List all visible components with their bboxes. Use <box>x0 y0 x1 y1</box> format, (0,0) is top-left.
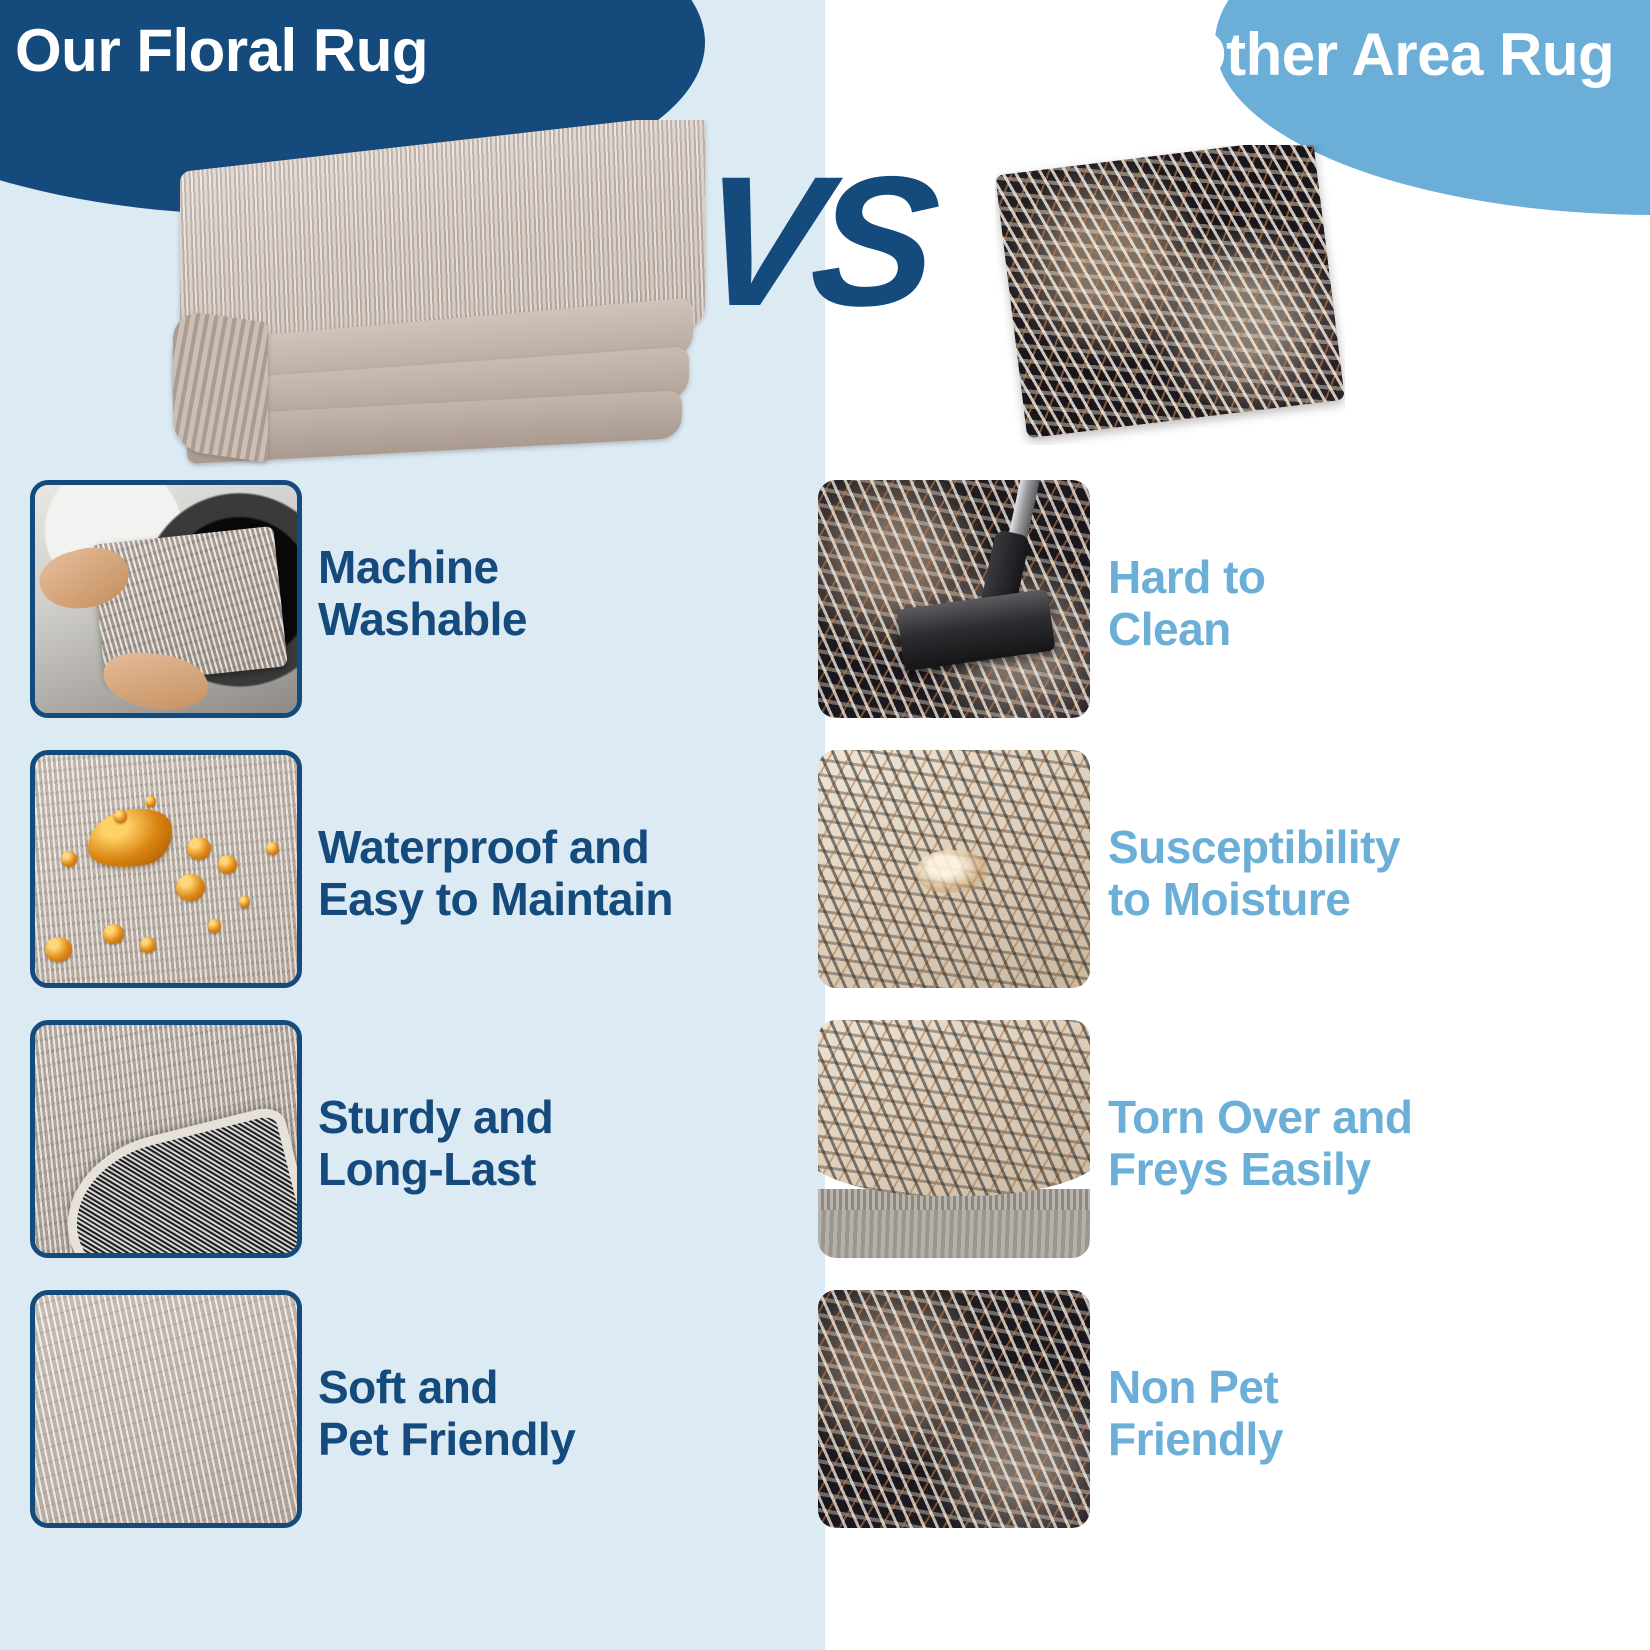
droplet-icon <box>176 874 205 901</box>
pro-label: Soft and Pet Friendly <box>318 1362 575 1465</box>
other-product-title: Other Area Rug <box>1180 20 1614 89</box>
wood-floor <box>818 1210 1090 1258</box>
feature-row: Sturdy and Long-Last Torn Over and Freys… <box>0 1010 1650 1280</box>
pro-label: Machine Washable <box>318 542 527 645</box>
rug-fold-edge <box>173 309 268 462</box>
pro-label: Sturdy and Long-Last <box>318 1092 553 1195</box>
con-label: Susceptibility to Moisture <box>1108 822 1400 925</box>
droplet-icon <box>114 810 127 824</box>
con-thumbnail-moisture <box>818 750 1090 988</box>
droplet-icon <box>218 855 236 873</box>
soft-texture-icon <box>35 1295 297 1523</box>
dark-rug-shape <box>995 145 1345 439</box>
pro-thumbnail-sturdy <box>30 1020 302 1258</box>
droplet-icon <box>61 851 77 867</box>
pro-thumbnail-waterproof <box>30 750 302 988</box>
pro-thumbnail-machine-washable <box>30 480 302 718</box>
droplet-icon <box>208 919 221 933</box>
our-rug-hero-image <box>155 120 715 480</box>
droplet-icon <box>103 924 124 945</box>
stain-shape <box>916 850 987 893</box>
feature-rows: Machine Washable Hard to Clean <box>0 470 1650 1550</box>
liquid-beading-icon <box>35 755 297 983</box>
infographic-canvas: Our Floral Rug Other Area Rug VS Machine… <box>0 0 1650 1650</box>
curled-rug-edge <box>818 1020 1090 1196</box>
feature-row: Soft and Pet Friendly Non Pet Friendly <box>0 1280 1650 1550</box>
droplet-icon <box>45 937 71 962</box>
liquid-blob-icon <box>83 803 178 874</box>
droplet-icon <box>239 896 249 907</box>
other-rug-hero-image <box>995 145 1345 445</box>
our-product-title: Our Floral Rug <box>15 16 428 85</box>
droplet-icon <box>140 937 156 953</box>
droplet-icon <box>266 842 279 856</box>
droplet-icon <box>187 837 211 860</box>
pro-thumbnail-soft <box>30 1290 302 1528</box>
vacuum-on-rug-icon <box>818 480 1090 718</box>
con-label: Non Pet Friendly <box>1108 1362 1283 1465</box>
rug-backing-icon <box>35 1025 297 1253</box>
con-thumbnail-torn <box>818 1020 1090 1258</box>
con-label: Torn Over and Freys Easily <box>1108 1092 1412 1195</box>
feature-row: Waterproof and Easy to Maintain Suscepti… <box>0 740 1650 1010</box>
washing-machine-icon <box>35 485 297 713</box>
pro-label: Waterproof and Easy to Maintain <box>318 822 673 925</box>
con-label: Hard to Clean <box>1108 552 1266 655</box>
feature-row: Machine Washable Hard to Clean <box>0 470 1650 740</box>
moisture-stain-icon <box>818 750 1090 988</box>
con-thumbnail-non-pet <box>818 1290 1090 1528</box>
frayed-edge-icon <box>818 1020 1090 1258</box>
versus-badge: VS <box>690 150 936 335</box>
coarse-texture-icon <box>818 1290 1090 1528</box>
vacuum-head-icon <box>896 589 1055 671</box>
droplet-icon <box>145 796 155 807</box>
con-thumbnail-hard-to-clean <box>818 480 1090 718</box>
non-slip-mesh-icon <box>51 1103 302 1258</box>
